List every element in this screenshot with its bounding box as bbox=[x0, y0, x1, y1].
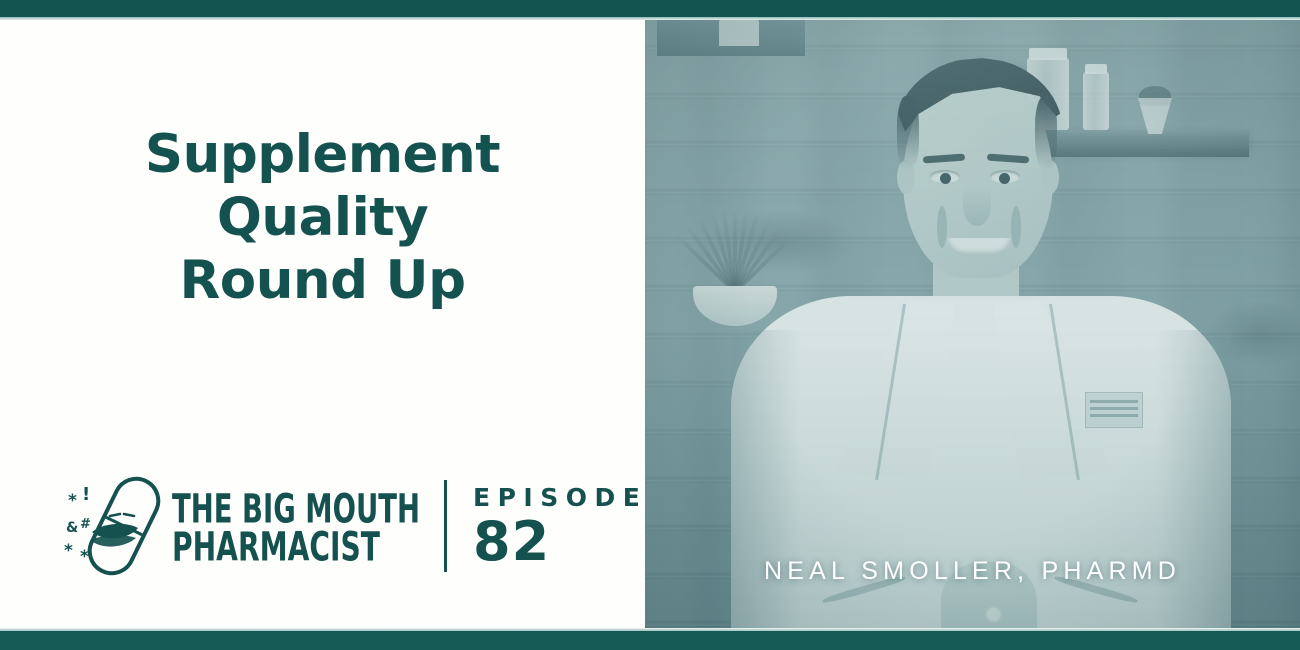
logo-divider bbox=[444, 480, 447, 572]
top-brand-bar bbox=[0, 0, 1300, 17]
speaker-figure bbox=[645, 0, 1300, 650]
smiling-mouth bbox=[947, 238, 1011, 256]
svg-text:*: * bbox=[68, 491, 77, 511]
speaker-name-caption: NEAL SMOLLER, PHARMD bbox=[645, 557, 1300, 586]
lab-coat-shadow-right bbox=[1157, 330, 1231, 650]
lab-coat-name-badge bbox=[1085, 392, 1143, 428]
episode-title-line-3: Round Up bbox=[0, 249, 645, 312]
nose bbox=[963, 186, 991, 226]
episode-title: Supplement Quality Round Up bbox=[0, 123, 645, 312]
episode-title-line-2: Quality bbox=[0, 186, 645, 249]
svg-text:*: * bbox=[80, 547, 89, 567]
pupil-left bbox=[940, 173, 951, 184]
episode-title-line-1: Supplement bbox=[0, 123, 645, 186]
brand-wordmark-line-2: PHARMACIST bbox=[172, 522, 380, 569]
hair-side-right bbox=[1035, 96, 1057, 170]
episode-number: 82 bbox=[473, 514, 647, 570]
brand-wordmark: THE BIG MOUTH PHARMACIST bbox=[172, 481, 422, 571]
smile-line-left bbox=[937, 206, 947, 248]
episode-label: EPISODE bbox=[473, 483, 647, 513]
ring bbox=[987, 608, 1000, 621]
svg-text:*: * bbox=[64, 541, 73, 561]
svg-text:#: # bbox=[80, 517, 91, 532]
left-content-panel: Supplement Quality Round Up * ! & # * * bbox=[0, 20, 645, 628]
svg-text:!: ! bbox=[82, 484, 90, 505]
top-brand-bar-hairline bbox=[0, 17, 1300, 20]
smile-line-right bbox=[1011, 206, 1021, 248]
svg-text:&: & bbox=[66, 520, 78, 536]
photo-scene bbox=[645, 0, 1300, 650]
episode-block: EPISODE 82 bbox=[473, 481, 647, 570]
hair-side-left bbox=[897, 96, 919, 170]
talking-capsule-logo-icon: * ! & # * * bbox=[62, 470, 170, 582]
podcast-episode-graphic: NEAL SMOLLER, PHARMD Supplement Quality … bbox=[0, 0, 1300, 650]
bottom-brand-bar bbox=[0, 631, 1300, 650]
pupil-right bbox=[999, 173, 1010, 184]
lab-coat-shadow-left bbox=[731, 330, 801, 650]
brand-logo-lockup[interactable]: * ! & # * * bbox=[62, 468, 582, 583]
speaker-photo-panel: NEAL SMOLLER, PHARMD bbox=[645, 0, 1300, 650]
